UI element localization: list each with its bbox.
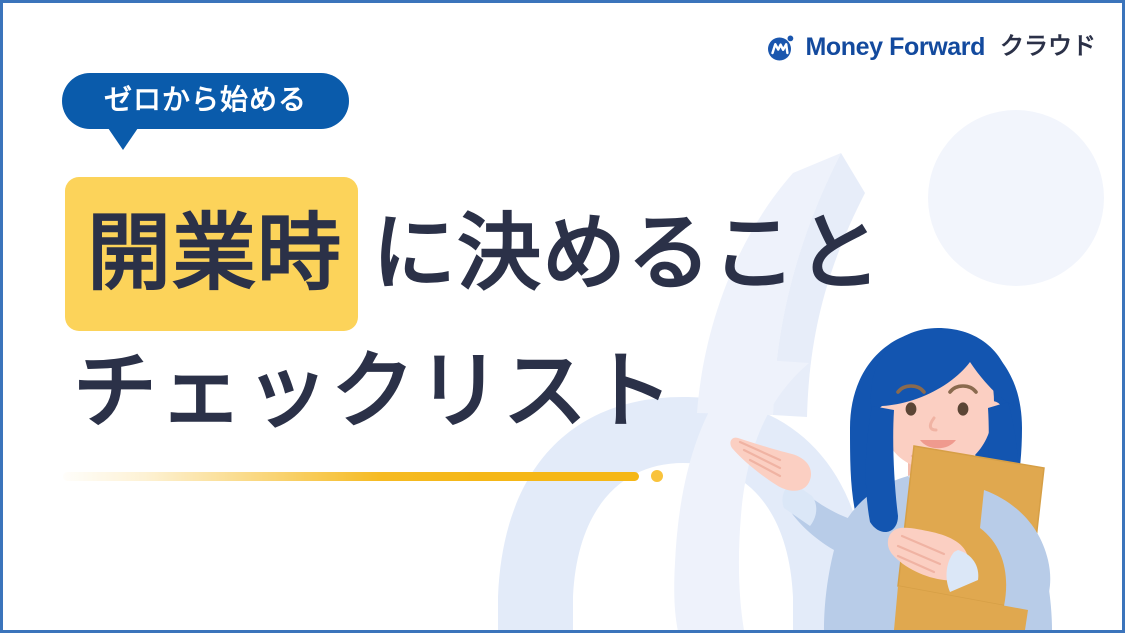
logo-wordmark: Money Forward	[805, 35, 985, 60]
accent-rule-dot	[651, 470, 663, 482]
slide-canvas: Money Forward クラウド ゼロから始める 開業時 に決めること チェ…	[0, 0, 1125, 633]
headline-highlight: 開業時	[65, 177, 358, 331]
eyebrow-badge-label: ゼロから始める	[104, 84, 307, 115]
badge-tail-icon	[108, 128, 138, 150]
eye-right	[958, 402, 969, 415]
brand-logo: Money Forward クラウド	[766, 30, 1096, 64]
eye-left	[906, 402, 917, 415]
accent-rule	[63, 470, 663, 482]
eyebrow-badge: ゼロから始める	[62, 73, 349, 129]
money-forward-logo-mark-icon	[766, 32, 796, 62]
eyebrow-badge-wrapper: ゼロから始める	[62, 73, 349, 129]
hair-side-left	[866, 406, 898, 532]
headline-line-1-rest: に決めること	[372, 211, 882, 297]
woman-with-clipboard-illustration	[722, 310, 1122, 630]
accent-rule-bar	[63, 472, 639, 481]
logo-suffix: クラウド	[1000, 35, 1096, 59]
headline-line-2-text: チェックリスト	[73, 349, 675, 433]
